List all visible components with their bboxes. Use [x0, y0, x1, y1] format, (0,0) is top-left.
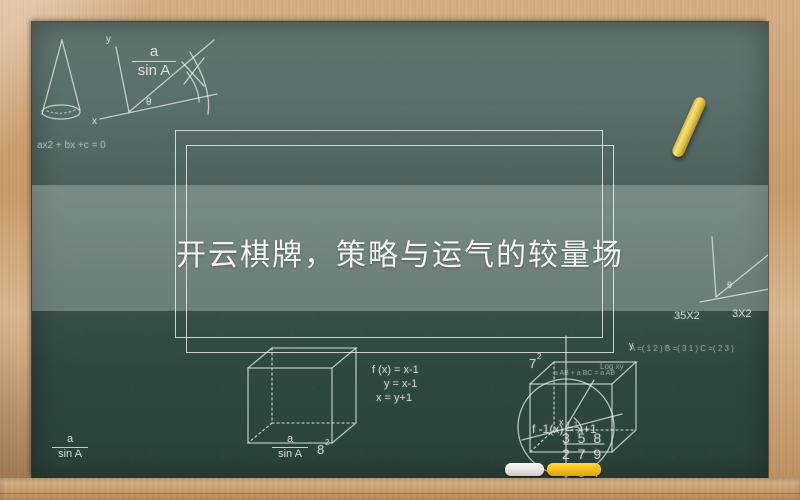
fraction-bar — [52, 447, 88, 448]
circle-sector-diagram — [518, 336, 622, 478]
chalk-axis-label-y-topleft: y — [106, 34, 111, 45]
chalk-fraction-a-over-sinA-bottomleft: a sin A — [52, 434, 88, 461]
angle-diagram-right — [700, 234, 768, 302]
chalk-note-eight-exponent: 2 — [325, 438, 329, 447]
chalk-note-35x2: 35X2 — [674, 310, 700, 322]
chalk-addition-addend-bottom: 2 7 9 — [562, 446, 603, 462]
chalk-note-eight: 8 — [317, 442, 324, 457]
chalk-art-svg — [32, 22, 768, 478]
ledge-groove-line — [0, 493, 800, 494]
chalk-axis-label-x-right: x — [559, 417, 564, 427]
chalkboard-texture — [32, 22, 768, 478]
chalk-stick-white-tray[interactable] — [505, 463, 544, 476]
chalk-note-quadratic: ax2 + bx +c = 0 — [37, 140, 106, 151]
chalkboard-surface: a sin A ax2 + bx +c = 0 y x θ θ 35X2 3X2… — [32, 22, 768, 478]
chalk-note-inverse-function: f -1(x) = x+1 — [532, 422, 597, 436]
chalk-note-fx-line-2: y = x-1 — [384, 378, 417, 390]
chalk-note-seven: 7 — [529, 356, 536, 371]
chalk-note-log: Log xy — [600, 362, 624, 371]
fraction-bar — [132, 61, 176, 62]
cube-diagram-right — [530, 362, 636, 452]
chalk-text-layer: a sin A ax2 + bx +c = 0 y x θ θ 35X2 3X2… — [32, 22, 768, 478]
chalk-addition-carry: 1 1 — [566, 420, 579, 430]
chalk-stick-yellow-board[interactable] — [671, 95, 708, 158]
chalk-axis-label-y-right: y — [629, 340, 634, 350]
chalk-angle-theta-topleft: θ — [146, 97, 152, 108]
chalk-note-3x2: 3X2 — [732, 308, 752, 320]
chalk-tray-ledge — [0, 478, 800, 500]
cube-diagram-center — [248, 348, 356, 443]
chalk-note-fx-line-3: x = y+1 — [376, 392, 412, 404]
chalk-note-seven-exponent: 2 — [537, 352, 541, 361]
chalk-axis-label-x-topleft: x — [92, 116, 97, 127]
chalk-note-vector-sum: a AB + a BC = a AB — [554, 370, 615, 377]
chalk-note-matrices: A =( 1 2 ) B =( 3 1 ) C =( 2 3 ) — [630, 344, 734, 353]
cone-diagram — [42, 40, 80, 119]
chalk-fraction-a-over-sinA-topleft: a sin A — [132, 44, 176, 79]
page-title-container: 开云棋牌，策略与运气的较量场 — [32, 230, 768, 274]
chalk-angle-theta-right: θ — [727, 280, 732, 290]
decorative-outer-rectangle — [175, 130, 603, 338]
title-highlight-band — [32, 185, 768, 311]
chalkboard-wooden-frame: a sin A ax2 + bx +c = 0 y x θ θ 35X2 3X2… — [0, 0, 800, 500]
page-title: 开云棋牌，策略与运气的较量场 — [176, 230, 624, 274]
chalk-note-fx-line-1: f (x) = x-1 — [372, 364, 419, 376]
chalk-fraction-a-over-sinA-bottommid: a sin A — [272, 434, 308, 461]
chalk-stick-yellow-tray[interactable] — [547, 463, 601, 476]
decorative-inner-rectangle — [186, 145, 614, 353]
fraction-bar — [272, 447, 308, 448]
chalk-drawings-layer — [32, 22, 768, 478]
angle-diagram-topleft — [100, 40, 217, 119]
chalk-addition-addend-top: 3 5 8 — [562, 430, 603, 446]
